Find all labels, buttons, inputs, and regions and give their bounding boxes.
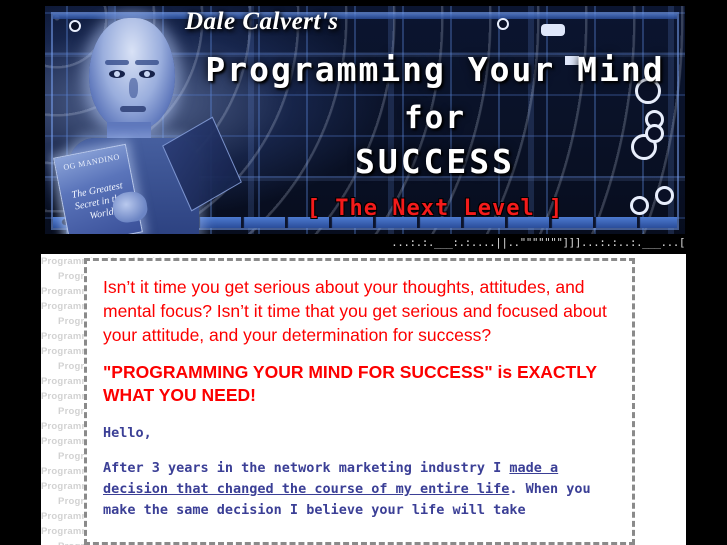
portrait-mouth [120, 106, 146, 112]
body-text-before-link: After 3 years in the network marketing i… [103, 460, 509, 476]
portrait-head [89, 18, 175, 130]
circuit-via-icon [497, 18, 509, 30]
portrait-eye-right [139, 70, 155, 78]
banner-region: OG MANDINO The Greatest Secret in the Wo… [0, 0, 727, 240]
greeting-line: Hello, [103, 423, 616, 444]
book-author-label: OG MANDINO [55, 151, 127, 174]
headline-callout: "PROGRAMMING YOUR MIND FOR SUCCESS" is E… [103, 361, 616, 407]
portrait-nose [129, 78, 138, 98]
banner-byline: Dale Calvert's [185, 8, 339, 36]
banner-subtitle: [ The Next Level ] [195, 196, 675, 221]
body-paragraph: After 3 years in the network marketing i… [103, 458, 616, 521]
lead-paragraph: Isn’t it time you get serious about your… [103, 275, 616, 347]
portrait-eye-left [109, 70, 125, 78]
sales-letter-box: Isn’t it time you get serious about your… [84, 258, 635, 545]
page-body: Programming Your Mind for Success Progra… [41, 254, 686, 545]
banner-title-line2: for [195, 100, 675, 136]
ascii-artifact-strip: ...:.:.___:.:....||.."""""""]]]...:.:..:… [0, 234, 727, 252]
circuit-pad-icon [541, 24, 565, 36]
page-root: OG MANDINO The Greatest Secret in the Wo… [0, 0, 727, 545]
portrait-brow-left [105, 60, 129, 65]
header-banner-image: OG MANDINO The Greatest Secret in the Wo… [45, 6, 685, 236]
banner-title-line1: Programming Your Mind [195, 50, 675, 89]
banner-title-line3: SUCCESS [195, 142, 675, 181]
portrait-brow-right [135, 60, 159, 65]
